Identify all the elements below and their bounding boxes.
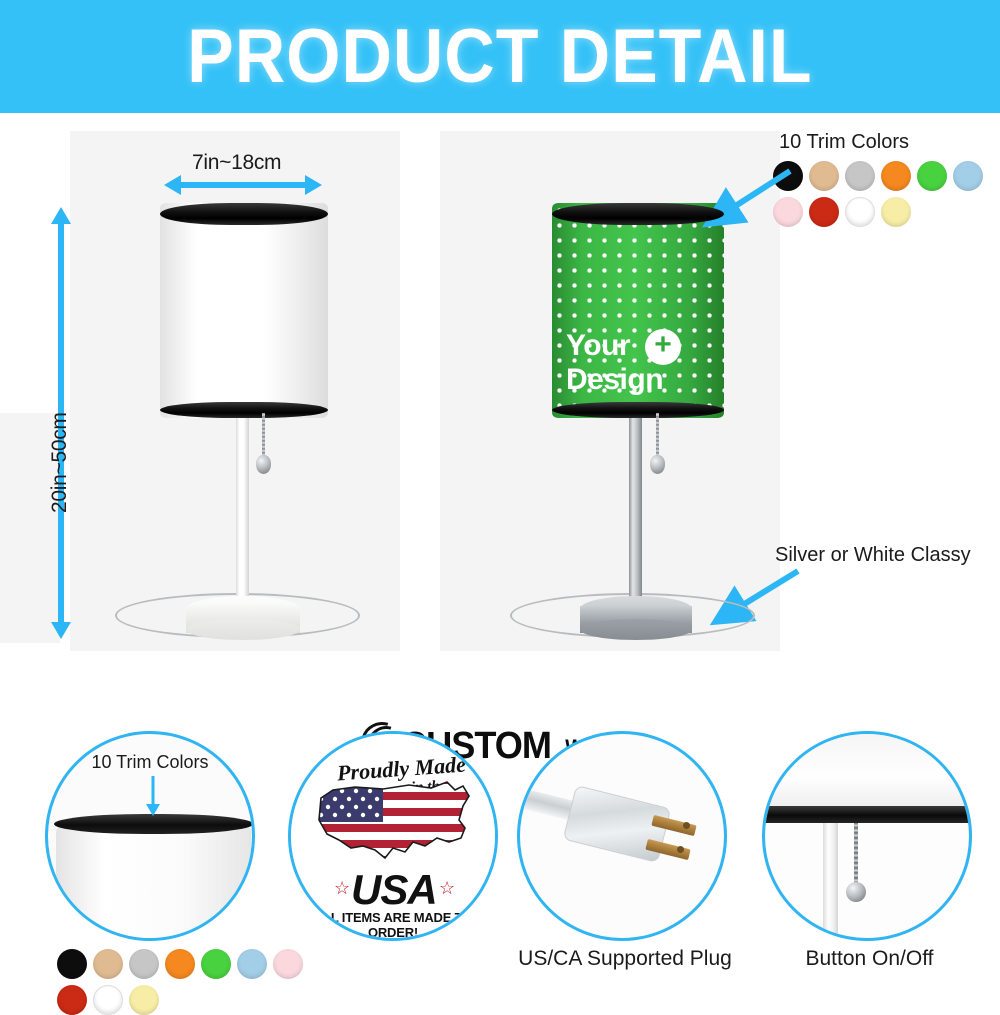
feature-row: 10 Trim Colors Proudly Made in the [0, 773, 1000, 1000]
base-bottom [580, 619, 692, 640]
feature-button: Button On/Off [762, 731, 977, 946]
trim-colors-title: 10 Trim Colors [779, 131, 909, 154]
shade-trim-bottom [160, 402, 328, 418]
plug-blade-hole [677, 846, 684, 853]
white-lamp [0, 113, 420, 653]
pull-chain [656, 413, 659, 458]
usa-big-text: USA [351, 866, 437, 914]
feature-caption-plug: US/CA Supported Plug [500, 947, 750, 971]
feature-trim-colors: 10 Trim Colors [45, 731, 260, 946]
trim-colors-inner-label: 10 Trim Colors [48, 752, 252, 773]
plus-icon: + [654, 330, 672, 360]
trim-swatch-orange[interactable] [165, 949, 195, 979]
base-bottom [186, 619, 300, 640]
trim-colors-swatches[interactable] [773, 161, 1000, 227]
design-line-1: Your [566, 331, 630, 361]
trim-swatch-red[interactable] [57, 985, 87, 1015]
lamp-base [580, 596, 692, 640]
shade-closeup [56, 826, 251, 941]
trim-swatch-light-blue[interactable] [237, 949, 267, 979]
trim-swatch-pale-yellow[interactable] [881, 197, 911, 227]
pull-chain-knob[interactable] [650, 455, 665, 474]
trim-swatch-red[interactable] [809, 197, 839, 227]
page-title: PRODUCT DETAIL [187, 19, 812, 95]
trim-swatch-pale-yellow[interactable] [129, 985, 159, 1015]
shade-trim-closeup [762, 806, 972, 823]
pull-chain [262, 413, 265, 458]
trim-pointer-arrow [142, 776, 164, 816]
pull-chain-closeup [854, 823, 858, 885]
usa-map-icon [313, 776, 481, 868]
shade-bottom-closeup [762, 734, 972, 812]
lamp-pole-closeup [823, 823, 838, 941]
trim-swatch-tan[interactable] [93, 949, 123, 979]
lamp-shade [160, 203, 328, 418]
shade-trim-closeup [54, 814, 253, 834]
usa-star-right-icon: ☆ [439, 878, 455, 899]
feature-circle [762, 731, 972, 941]
design-line-2: Design [566, 365, 663, 395]
shade-trim-top [552, 203, 724, 225]
usa-star-left-icon: ☆ [334, 878, 350, 899]
pull-chain-knob-closeup[interactable] [846, 882, 866, 902]
trim-swatch-pink[interactable] [273, 949, 303, 979]
trim-callout-arrow [690, 163, 800, 233]
feature-made-in-usa: Proudly Made in the [288, 731, 503, 946]
lamp-base [186, 596, 300, 640]
design-placeholder: Your + Design [562, 331, 714, 401]
lamp-pole [236, 413, 249, 613]
shade-trim-bottom [552, 402, 724, 418]
feature-circle: Proudly Made in the [288, 731, 498, 941]
trim-swatch-white[interactable] [845, 197, 875, 227]
feature-caption-button: Button On/Off [752, 947, 987, 971]
trim-swatch-orange[interactable] [881, 161, 911, 191]
pull-chain-knob[interactable] [256, 455, 271, 474]
shade-surface [160, 203, 328, 418]
header-banner: PRODUCT DETAIL [0, 0, 1000, 113]
trim-swatch-light-blue[interactable] [953, 161, 983, 191]
usa-subtitle: ALL ITEMS ARE MADE TO ORDER! [291, 910, 495, 940]
trim-swatch-gray[interactable] [129, 949, 159, 979]
plus-icon-circle: + [645, 329, 681, 365]
trim-swatch-black[interactable] [57, 949, 87, 979]
trim-swatch-tan[interactable] [809, 161, 839, 191]
shade-trim-top [160, 203, 328, 225]
lamp-pole [629, 413, 642, 613]
feature-circle: 10 Trim Colors [45, 731, 255, 941]
feature-plug: US/CA Supported Plug [517, 731, 732, 946]
product-stage: 7in~18cm 20in~50cm [0, 113, 1000, 713]
plug-blade-hole [683, 822, 690, 829]
usa-badge: Proudly Made in the [291, 734, 495, 938]
feature-circle [517, 731, 727, 941]
trim-swatch-white[interactable] [93, 985, 123, 1015]
trim-swatch-green[interactable] [201, 949, 231, 979]
trim-colors-swatches-bottom[interactable] [57, 949, 307, 1015]
trim-swatch-green[interactable] [917, 161, 947, 191]
trim-swatch-gray[interactable] [845, 161, 875, 191]
lamp-shade: Your + Design [552, 203, 724, 418]
